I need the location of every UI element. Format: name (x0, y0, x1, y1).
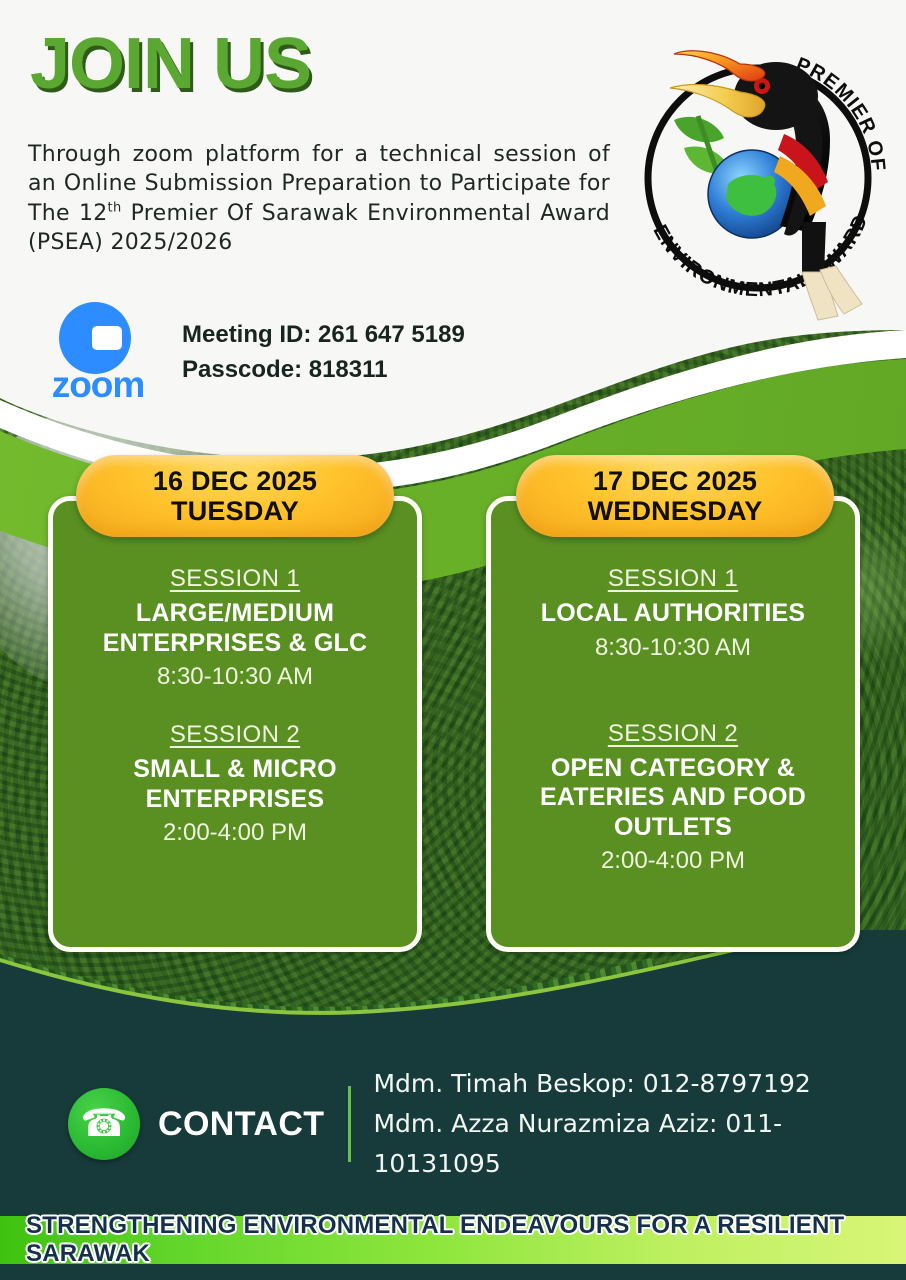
phone-glyph: ☎ (80, 1105, 127, 1143)
session-title: SMALL & MICRO ENTERPRISES (67, 755, 403, 814)
tagline-text: STRENGTHENING ENVIRONMENTAL ENDEAVOURS F… (26, 1212, 906, 1268)
meeting-details: Meeting ID: 261 647 5189 Passcode: 81831… (182, 318, 465, 388)
session-time: 2:00-4:00 PM (67, 819, 403, 847)
session-title: LARGE/MEDIUM ENTERPRISES & GLC (67, 599, 403, 658)
session-label: SESSION 1 (505, 565, 841, 593)
contact-heading: CONTACT (158, 1105, 324, 1144)
session-title: OPEN CATEGORY & EATERIES AND FOOD OUTLET… (505, 754, 841, 843)
session-time: 8:30-10:30 AM (67, 663, 403, 691)
weekday-text: WEDNESDAY (588, 496, 763, 526)
session-label: SESSION 1 (67, 565, 403, 593)
page-title: JOIN US (30, 28, 311, 100)
ordinal-suffix: th (108, 200, 122, 215)
date-text: 17 DEC 2025 (593, 466, 757, 496)
zoom-logo: zoom (42, 302, 154, 402)
schedule-card-body-2: SESSION 1 LOCAL AUTHORITIES 8:30-10:30 A… (491, 565, 855, 875)
contact-entry: Mdm. Timah Beskop: 012-8797192 (373, 1064, 888, 1104)
intro-paragraph: Through zoom platform for a technical se… (28, 140, 610, 257)
zoom-wordmark: zoom (42, 364, 154, 406)
session-time: 2:00-4:00 PM (505, 847, 841, 875)
award-emblem-icon: PREMIER OF SARAWAK ENVIRONMENTAL AWARD (612, 8, 898, 328)
contact-list: Mdm. Timah Beskop: 012-8797192 Mdm. Azza… (373, 1064, 888, 1184)
session-title: LOCAL AUTHORITIES (505, 599, 841, 629)
poster-root: JOIN US Through zoom platform for a tech… (0, 0, 906, 1280)
session-time: 8:30-10:30 AM (505, 634, 841, 662)
session-label: SESSION 2 (505, 720, 841, 748)
tagline-banner: STRENGTHENING ENVIRONMENTAL ENDEAVOURS F… (0, 1216, 906, 1264)
zoom-camera-lens (104, 327, 118, 349)
session-spacer (505, 662, 841, 720)
date-badge-day-2: 17 DEC 2025 WEDNESDAY (516, 455, 834, 537)
date-text: 16 DEC 2025 (153, 466, 317, 496)
schedule-card-day-1: SESSION 1 LARGE/MEDIUM ENTERPRISES & GLC… (48, 496, 422, 952)
date-badge-day-1: 16 DEC 2025 TUESDAY (76, 455, 394, 537)
phone-icon: ☎ (68, 1088, 140, 1160)
weekday-text: TUESDAY (171, 496, 299, 526)
psea-award-logo: PREMIER OF SARAWAK ENVIRONMENTAL AWARD (612, 8, 898, 328)
contact-section: ☎ CONTACT Mdm. Timah Beskop: 012-8797192… (68, 1076, 888, 1172)
session-label: SESSION 2 (67, 721, 403, 749)
schedule-card-day-2: SESSION 1 LOCAL AUTHORITIES 8:30-10:30 A… (486, 496, 860, 952)
banner-bottom-edge (0, 1264, 906, 1280)
passcode-text: Passcode: 818311 (182, 353, 465, 388)
schedule-card-body-1: SESSION 1 LARGE/MEDIUM ENTERPRISES & GLC… (53, 565, 417, 847)
session-spacer (67, 691, 403, 721)
meeting-id-text: Meeting ID: 261 647 5189 (182, 318, 465, 353)
contact-divider (348, 1086, 351, 1162)
contact-entry: Mdm. Azza Nurazmiza Aziz: 011-10131095 (373, 1104, 888, 1184)
